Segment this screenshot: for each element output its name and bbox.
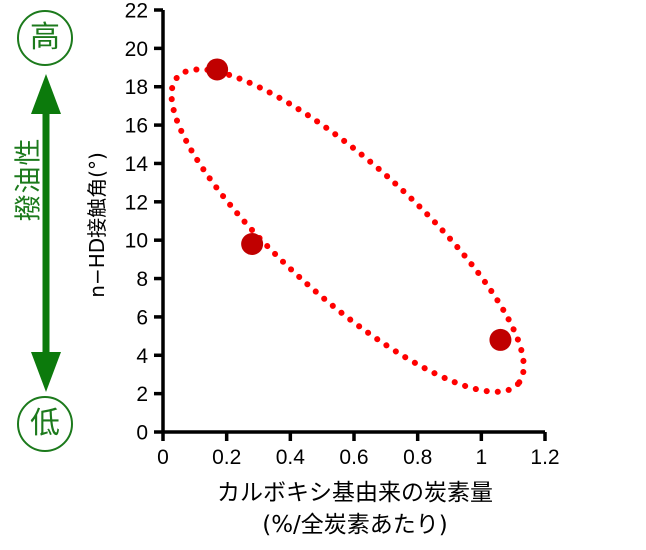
x-axis-tick-label: 0: [157, 446, 169, 469]
x-axis-tick-label: 0.6: [339, 446, 368, 469]
data-point-marker: [206, 58, 228, 80]
y-axis-tick-label: 8: [136, 268, 148, 291]
data-points: [206, 58, 511, 350]
y-axis-tick-label: 2: [136, 383, 148, 406]
y-axis-title: n−HD接触角(°): [85, 152, 109, 297]
chart-canvas: 0246810121416182022 00.20.40.60.811.2 カル…: [0, 0, 646, 550]
x-axis-title: カルボキシ基由来の炭素量: [217, 480, 493, 506]
y-axis-tick-label: 4: [136, 345, 148, 368]
y-axis-tick-label: 22: [125, 0, 148, 23]
y-axis-tick-label: 18: [125, 76, 148, 99]
y-axis-tick-label: 6: [136, 306, 148, 329]
y-axis-tick-label: 16: [125, 115, 148, 138]
x-axis-tick-label: 0.4: [276, 446, 306, 469]
y-axis: 0246810121416182022: [125, 0, 163, 445]
chart-annotations: [133, 28, 563, 434]
x-axis-title-sub: (%/全炭素あたり): [262, 512, 448, 538]
trend-ellipse: [133, 28, 563, 434]
y-axis-tick-label: 0: [136, 422, 148, 445]
data-point-marker: [489, 329, 511, 351]
data-point-marker: [241, 233, 263, 255]
x-axis-tick-label: 0.2: [212, 446, 241, 469]
x-axis-tick-label: 1: [475, 446, 487, 469]
x-axis-tick-label: 1.2: [530, 446, 559, 469]
y-axis-tick-label: 20: [125, 38, 148, 61]
x-axis-tick-label: 0.8: [403, 446, 432, 469]
scatter-chart: 0246810121416182022 00.20.40.60.811.2 カル…: [0, 0, 646, 550]
y-axis-tick-label: 14: [125, 153, 149, 176]
y-axis-tick-label: 10: [125, 230, 148, 253]
x-axis: 00.20.40.60.811.2: [157, 432, 559, 469]
y-axis-tick-label: 12: [125, 191, 148, 214]
